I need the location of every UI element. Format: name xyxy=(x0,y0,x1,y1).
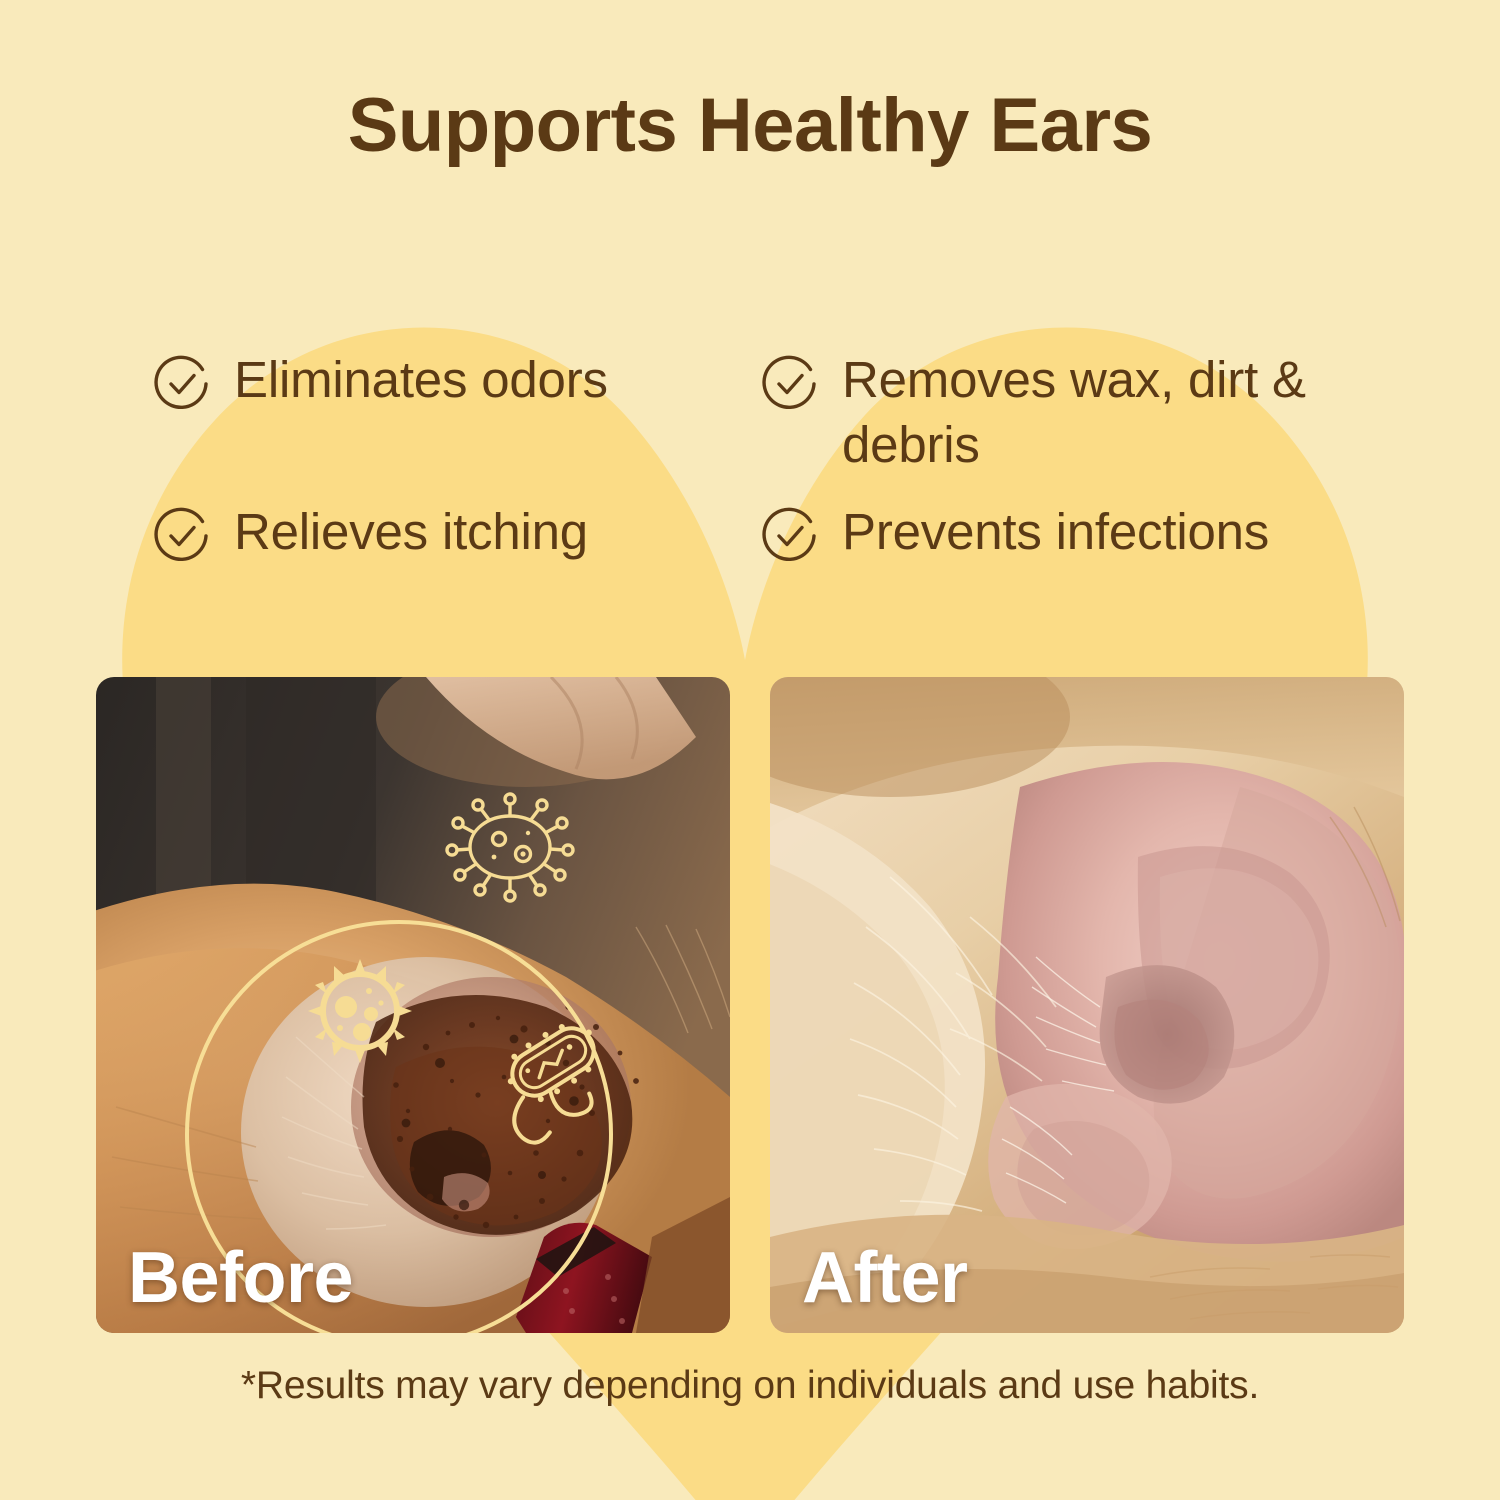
benefit-label: Eliminates odors xyxy=(234,348,608,413)
benefit-label: Prevents infections xyxy=(842,500,1269,565)
benefit-item-eliminates-odors: Eliminates odors xyxy=(150,348,758,478)
spiky-germ-icon xyxy=(308,959,412,1063)
benefit-item-prevents-infections: Prevents infections xyxy=(758,500,1365,568)
after-photo-panel: After xyxy=(770,677,1404,1333)
disclaimer-text: *Results may vary depending on individua… xyxy=(0,1364,1500,1408)
benefits-row-1: Eliminates odors Removes wax, dirt & deb… xyxy=(150,348,1365,478)
product-benefits-infographic: Supports Healthy Ears Eliminates odors R… xyxy=(0,0,1500,1500)
check-circle-icon xyxy=(150,352,214,416)
before-photo-panel: Before xyxy=(96,677,730,1333)
benefit-label: Relieves itching xyxy=(234,500,588,565)
after-label: After xyxy=(802,1237,968,1319)
germ-highlight-overlay xyxy=(96,677,730,1333)
benefit-label: Removes wax, dirt & debris xyxy=(842,348,1365,478)
benefit-item-relieves-itching: Relieves itching xyxy=(150,500,758,568)
check-circle-icon xyxy=(150,504,214,568)
check-circle-icon xyxy=(758,352,822,416)
virus-germ-icon xyxy=(447,794,573,901)
before-label: Before xyxy=(128,1237,353,1319)
benefits-row-2: Relieves itching Prevents infections xyxy=(150,500,1365,568)
page-title: Supports Healthy Ears xyxy=(0,86,1500,166)
benefit-item-removes-wax: Removes wax, dirt & debris xyxy=(758,348,1365,478)
after-photo-image xyxy=(770,677,1404,1333)
check-circle-icon xyxy=(758,504,822,568)
benefits-list: Eliminates odors Removes wax, dirt & deb… xyxy=(150,348,1365,568)
before-after-comparison: Before xyxy=(96,677,1404,1333)
